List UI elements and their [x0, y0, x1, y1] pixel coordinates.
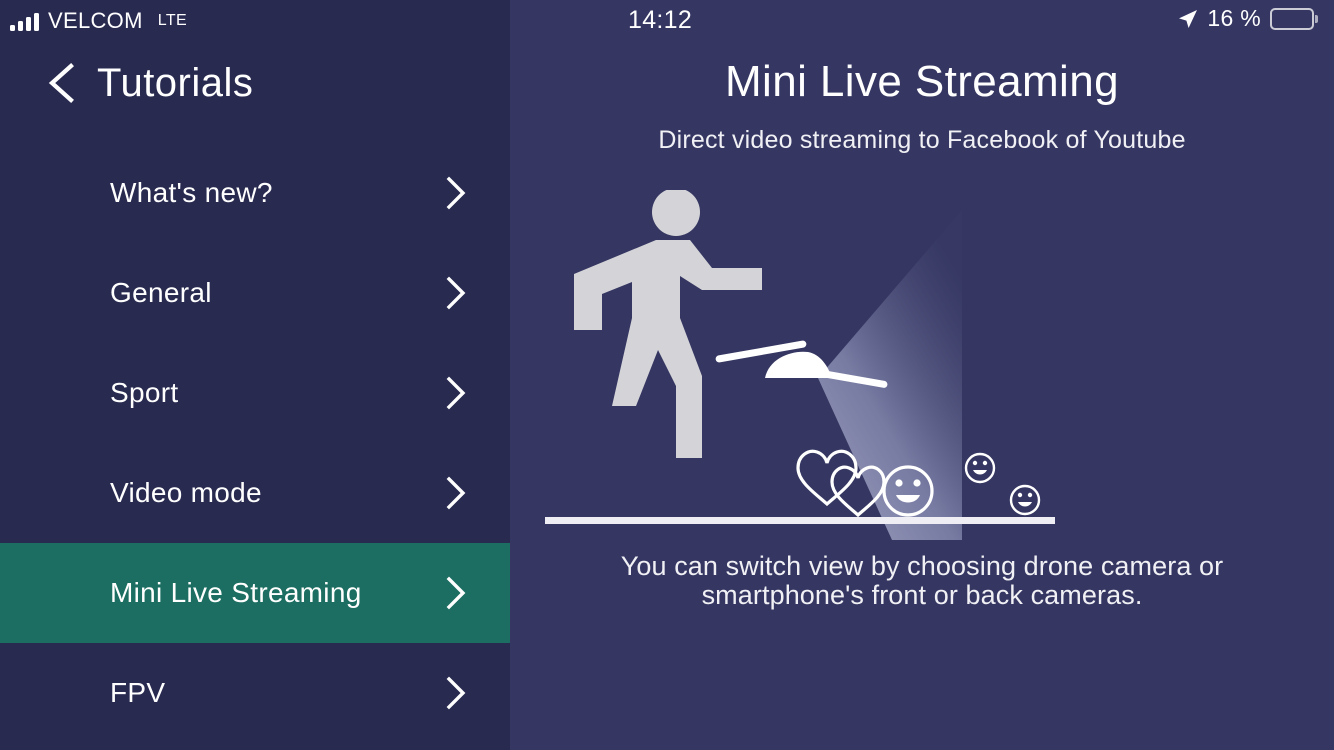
network-type-label: LTE: [158, 12, 187, 30]
location-arrow-icon: [1178, 9, 1198, 29]
sidebar-item-label: FPV: [110, 677, 165, 709]
chevron-right-icon: [444, 676, 468, 710]
smiley-face-icon: [966, 454, 994, 482]
tutorial-detail-panel: 14:12 16 % Mini Live Streaming Direct vi…: [510, 0, 1334, 750]
sidebar-item-fpv[interactable]: FPV: [0, 643, 510, 743]
smiley-face-icon: [1011, 486, 1039, 514]
tutorial-caption: You can switch view by choosing drone ca…: [510, 552, 1334, 610]
battery-percent-label: 16 %: [1207, 5, 1261, 32]
sidebar-item-general[interactable]: General: [0, 243, 510, 343]
sidebar-item-label: What's new?: [110, 177, 273, 209]
battery-icon: [1270, 8, 1314, 30]
sidebar-item-mini-live-streaming[interactable]: Mini Live Streaming: [0, 543, 510, 643]
chevron-right-icon: [444, 376, 468, 410]
signal-strength-icon: [10, 11, 39, 31]
carrier-name: VELCOM: [48, 8, 143, 34]
chevron-right-icon: [444, 176, 468, 210]
status-indicators: 16 %: [1178, 5, 1314, 32]
status-bar-right: 14:12 16 %: [510, 0, 1334, 42]
sidebar-item-sport[interactable]: Sport: [0, 343, 510, 443]
live-streaming-illustration: [540, 190, 1304, 540]
sidebar: VELCOM LTE Tutorials What's new?: [0, 0, 510, 750]
sidebar-item-label: Video mode: [110, 477, 262, 509]
page-title: Tutorials: [97, 63, 253, 103]
sidebar-item-label: General: [110, 277, 212, 309]
chevron-left-icon[interactable]: [44, 61, 78, 105]
sidebar-item-whats-new[interactable]: What's new?: [0, 143, 510, 243]
chevron-right-icon: [444, 576, 468, 610]
tutorial-title: Mini Live Streaming: [510, 58, 1334, 106]
sidebar-item-video-mode[interactable]: Video mode: [0, 443, 510, 543]
walking-person-figure: [574, 190, 762, 458]
heart-outline: [798, 451, 856, 504]
tutorials-menu-list: What's new? General Sport: [0, 143, 510, 743]
tutorials-screen: VELCOM LTE Tutorials What's new?: [0, 0, 1334, 750]
status-bar-left: VELCOM LTE: [0, 0, 510, 42]
nav-header: Tutorials: [0, 48, 510, 118]
tutorial-subtitle: Direct video streaming to Facebook of Yo…: [510, 126, 1334, 155]
sidebar-item-label: Sport: [110, 377, 178, 409]
sidebar-item-label: Mini Live Streaming: [110, 577, 362, 609]
clock-label: 14:12: [628, 6, 692, 35]
chevron-right-icon: [444, 476, 468, 510]
ground-line: [545, 517, 1055, 524]
chevron-right-icon: [444, 276, 468, 310]
